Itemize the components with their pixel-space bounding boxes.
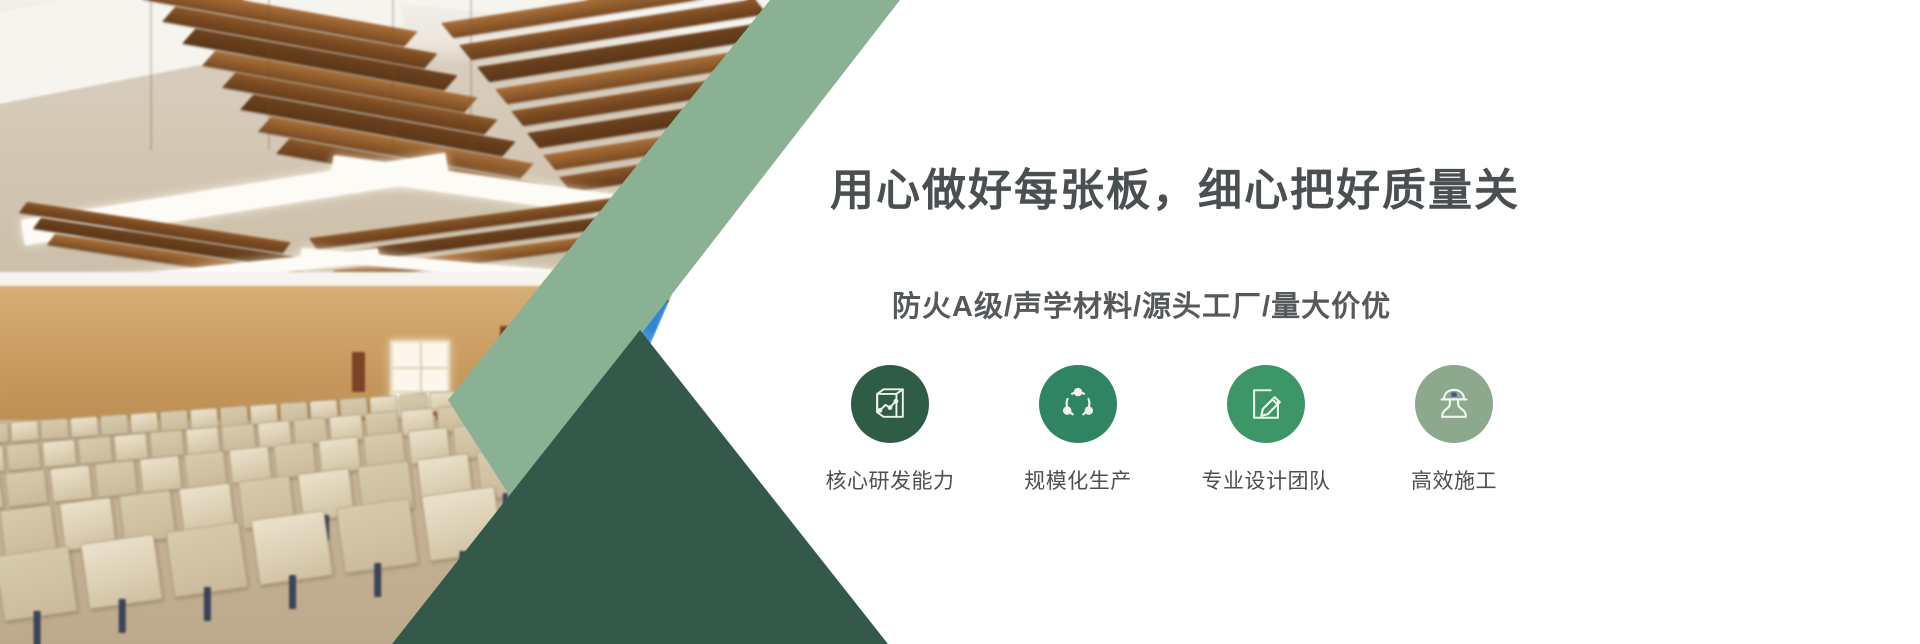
feature-label: 专业设计团队 — [1202, 465, 1331, 495]
banner-headline: 用心做好每张板，细心把好质量关 — [830, 154, 1520, 218]
promo-banner: 用心做好每张板，细心把好质量关 防火A级/声学材料/源头工厂/量大价优 — [0, 0, 1920, 644]
worker-helmet-icon — [1432, 382, 1476, 426]
feature-icon-circle — [1415, 365, 1493, 443]
feature-icon-circle — [1227, 365, 1305, 443]
edit-square-icon — [1244, 382, 1288, 426]
network-share-icon — [1056, 382, 1100, 426]
ceiling-region — [0, 0, 800, 300]
banner-subheadline: 防火A级/声学材料/源头工厂/量大价优 — [892, 283, 1391, 325]
chart-box-icon — [868, 382, 912, 426]
feature-label: 高效施工 — [1411, 465, 1497, 495]
auditorium-photo — [0, 0, 800, 644]
banner-content: 用心做好每张板，细心把好质量关 防火A级/声学材料/源头工厂/量大价优 — [820, 0, 1920, 644]
feature-icon-circle — [851, 365, 929, 443]
feature-item-scale-production[interactable]: 规模化生产 — [1008, 365, 1148, 495]
feature-list: 核心研发能力 规模化生产 — [820, 365, 1524, 495]
feature-item-design-team[interactable]: 专业设计团队 — [1196, 365, 1336, 495]
feature-item-core-rd[interactable]: 核心研发能力 — [820, 365, 960, 495]
feature-icon-circle — [1039, 365, 1117, 443]
feature-item-efficient-construction[interactable]: 高效施工 — [1384, 365, 1524, 495]
feature-label: 规模化生产 — [1024, 465, 1132, 495]
feature-label: 核心研发能力 — [826, 465, 955, 495]
